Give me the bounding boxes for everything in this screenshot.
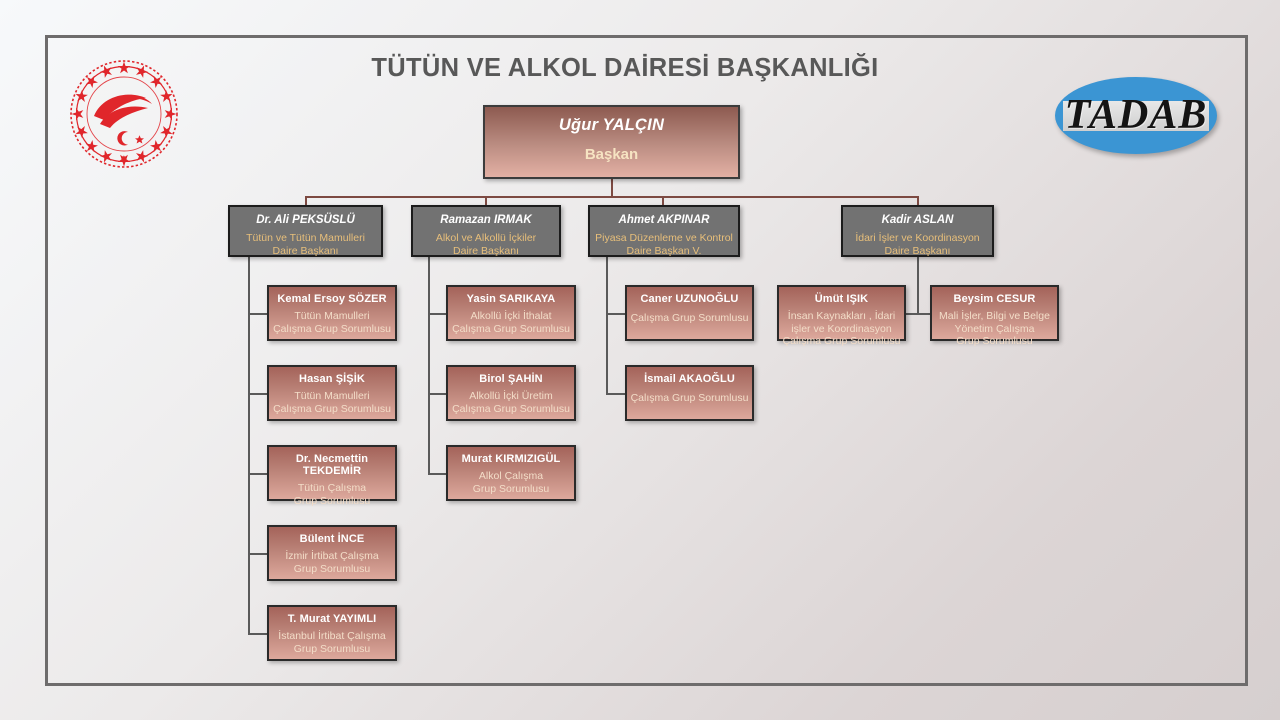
unit-3-1-role: Çalışma Grup Sorumlusu: [627, 305, 752, 325]
unit-1-1-role: Tütün Mamulleri Çalışma Grup Sorumlusu: [269, 305, 395, 336]
department-4-role-line2: Daire Başkanı: [885, 245, 951, 257]
department-2-name: Ramazan IRMAK: [413, 207, 559, 226]
connector-heads-bus: [305, 196, 918, 198]
department-4-role-line1: İdari İşler ve Koordinasyon: [855, 232, 979, 244]
unit-1-4-role-line2: Grup Sorumlusu: [294, 563, 370, 575]
unit-1-2-name: Hasan ŞİŞİK: [269, 367, 395, 385]
unit-4-1-name: Ümüt IŞIK: [779, 287, 904, 305]
unit-2-2-role-line2: Çalışma Grup Sorumlusu: [452, 403, 570, 415]
department-4-role: İdari İşler ve Koordinasyon Daire Başkan…: [843, 226, 992, 258]
unit-4-1-role: İnsan Kaynakları , İdari işler ve Koordi…: [779, 305, 904, 348]
org-node-department-4[interactable]: Kadir ASLAN İdari İşler ve Koordinasyon …: [841, 205, 994, 257]
connector-spine-dept-4: [917, 257, 919, 313]
department-3-role: Piyasa Düzenleme ve Kontrol Daire Başkan…: [590, 226, 738, 258]
org-node-president[interactable]: Uğur YALÇIN Başkan: [483, 105, 740, 179]
unit-1-1-name: Kemal Ersoy SÖZER: [269, 287, 395, 305]
unit-3-1-name: Caner UZUNOĞLU: [627, 287, 752, 305]
connector-spine-dept-2: [428, 257, 430, 475]
unit-2-1-role: Alkollü İçki İthalat Çalışma Grup Soruml…: [448, 305, 574, 336]
org-node-unit-4-1[interactable]: Ümüt IŞIK İnsan Kaynakları , İdari işler…: [777, 285, 906, 341]
unit-4-2-role-line3: Grup Sorumlusu: [956, 335, 1032, 347]
org-node-unit-1-3[interactable]: Dr. Necmettin TEKDEMİR Tütün Çalışma Gru…: [267, 445, 397, 501]
unit-2-3-role-line2: Grup Sorumlusu: [473, 483, 549, 495]
department-2-role-line2: Daire Başkanı: [453, 245, 519, 257]
connector-branch-2-2: [428, 393, 447, 395]
unit-1-2-role-line1: Tütün Mamulleri: [294, 390, 369, 402]
unit-1-1-role-line1: Tütün Mamulleri: [294, 310, 369, 322]
org-node-unit-3-1[interactable]: Caner UZUNOĞLU Çalışma Grup Sorumlusu: [625, 285, 754, 341]
unit-1-3-role-line1: Tütün Çalışma: [298, 482, 366, 494]
connector-branch-2-1: [428, 313, 447, 315]
connector-branch-2-3: [428, 473, 447, 475]
org-node-unit-2-1[interactable]: Yasin SARIKAYA Alkollü İçki İthalat Çalı…: [446, 285, 576, 341]
unit-1-4-name: Bülent İNCE: [269, 527, 395, 545]
org-node-department-1[interactable]: Dr. Ali PEKSÜSLÜ Tütün ve Tütün Mamuller…: [228, 205, 383, 257]
org-chart-slide: TÜTÜN VE ALKOL DAİRESİ BAŞKANLIĞI: [0, 0, 1280, 720]
ministry-seal-logo: ★: [68, 58, 180, 170]
unit-1-5-name: T. Murat YAYIMLI: [269, 607, 395, 625]
tadab-wordmark: TADAB: [1055, 91, 1217, 139]
unit-2-1-role-line2: Çalışma Grup Sorumlusu: [452, 323, 570, 335]
department-3-role-line1: Piyasa Düzenleme ve Kontrol: [595, 232, 733, 244]
unit-1-3-role-line2: Grup Sorumlusu: [294, 495, 370, 507]
unit-3-2-role: Çalışma Grup Sorumlusu: [627, 385, 752, 405]
connector-spine-dept-3: [606, 257, 608, 395]
connector-president-stem: [611, 179, 613, 197]
unit-1-3-role: Tütün Çalışma Grup Sorumlusu: [269, 477, 395, 508]
svg-text:★: ★: [122, 154, 126, 159]
tadab-logo: TADAB: [1055, 77, 1217, 154]
unit-1-2-role: Tütün Mamulleri Çalışma Grup Sorumlusu: [269, 385, 395, 416]
unit-1-2-role-line2: Çalışma Grup Sorumlusu: [273, 403, 391, 415]
org-node-department-3[interactable]: Ahmet AKPINAR Piyasa Düzenleme ve Kontro…: [588, 205, 740, 257]
org-node-unit-2-3[interactable]: Murat KIRMIZIGÜL Alkol Çalışma Grup Soru…: [446, 445, 576, 501]
connector-branch-3-2: [606, 393, 626, 395]
org-node-unit-1-5[interactable]: T. Murat YAYIMLI İstanbul İrtibat Çalışm…: [267, 605, 397, 661]
department-4-name: Kadir ASLAN: [843, 207, 992, 226]
unit-3-2-name: İsmail AKAOĞLU: [627, 367, 752, 385]
unit-4-1-role-line2: işler ve Koordinasyon: [791, 323, 891, 335]
unit-4-2-role: Mali İşler, Bilgi ve Belge Yönetim Çalış…: [932, 305, 1057, 348]
unit-1-4-role: İzmir İrtibat Çalışma Grup Sorumlusu: [269, 545, 395, 576]
department-1-name: Dr. Ali PEKSÜSLÜ: [230, 207, 381, 226]
president-name: Uğur YALÇIN: [485, 107, 738, 135]
connector-branch-1-3: [248, 473, 268, 475]
connector-branch-1-1: [248, 313, 268, 315]
unit-1-5-role: İstanbul İrtibat Çalışma Grup Sorumlusu: [269, 625, 395, 656]
unit-2-3-role-line1: Alkol Çalışma: [479, 470, 543, 482]
unit-1-5-role-line1: İstanbul İrtibat Çalışma: [278, 630, 385, 642]
org-node-unit-3-2[interactable]: İsmail AKAOĞLU Çalışma Grup Sorumlusu: [625, 365, 754, 421]
unit-4-2-role-line1: Mali İşler, Bilgi ve Belge: [939, 310, 1050, 322]
unit-2-2-role: Alkollü İçki Üretim Çalışma Grup Sorumlu…: [448, 385, 574, 416]
department-1-role-line1: Tütün ve Tütün Mamulleri: [246, 232, 365, 244]
department-1-role: Tütün ve Tütün Mamulleri Daire Başkanı: [230, 226, 381, 258]
president-role: Başkan: [485, 135, 738, 163]
connector-branch-1-4: [248, 553, 268, 555]
unit-4-1-role-line1: İnsan Kaynakları , İdari: [788, 310, 895, 322]
org-node-unit-1-4[interactable]: Bülent İNCE İzmir İrtibat Çalışma Grup S…: [267, 525, 397, 581]
unit-2-3-name: Murat KIRMIZIGÜL: [448, 447, 574, 465]
page-title: TÜTÜN VE ALKOL DAİRESİ BAŞKANLIĞI: [240, 54, 1010, 83]
connector-branch-1-2: [248, 393, 268, 395]
org-node-unit-1-2[interactable]: Hasan ŞİŞİK Tütün Mamulleri Çalışma Grup…: [267, 365, 397, 421]
unit-1-4-role-line1: İzmir İrtibat Çalışma: [285, 550, 378, 562]
connector-branch-1-5: [248, 633, 268, 635]
unit-4-2-role-line2: Yönetim Çalışma: [955, 323, 1035, 335]
department-3-role-line2: Daire Başkan V.: [627, 245, 702, 257]
department-2-role: Alkol ve Alkollü İçkiler Daire Başkanı: [413, 226, 559, 258]
unit-1-5-role-line2: Grup Sorumlusu: [294, 643, 370, 655]
unit-2-2-role-line1: Alkollü İçki Üretim: [469, 390, 552, 402]
org-node-unit-2-2[interactable]: Birol ŞAHİN Alkollü İçki Üretim Çalışma …: [446, 365, 576, 421]
org-node-unit-1-1[interactable]: Kemal Ersoy SÖZER Tütün Mamulleri Çalışm…: [267, 285, 397, 341]
unit-4-2-name: Beysim CESUR: [932, 287, 1057, 305]
unit-1-1-role-line2: Çalışma Grup Sorumlusu: [273, 323, 391, 335]
unit-2-3-role: Alkol Çalışma Grup Sorumlusu: [448, 465, 574, 496]
unit-2-1-role-line1: Alkollü İçki İthalat: [470, 310, 551, 322]
department-2-role-line1: Alkol ve Alkollü İçkiler: [436, 232, 536, 244]
connector-branch-3-1: [606, 313, 626, 315]
org-node-unit-4-2[interactable]: Beysim CESUR Mali İşler, Bilgi ve Belge …: [930, 285, 1059, 341]
department-3-name: Ahmet AKPINAR: [590, 207, 738, 226]
department-1-role-line2: Daire Başkanı: [273, 245, 339, 257]
unit-1-3-name: Dr. Necmettin TEKDEMİR: [269, 447, 395, 477]
org-node-department-2[interactable]: Ramazan IRMAK Alkol ve Alkollü İçkiler D…: [411, 205, 561, 257]
unit-2-1-name: Yasin SARIKAYA: [448, 287, 574, 305]
unit-4-1-role-line3: Çalışma Grup Sorumlusu: [783, 335, 901, 347]
unit-2-2-name: Birol ŞAHİN: [448, 367, 574, 385]
